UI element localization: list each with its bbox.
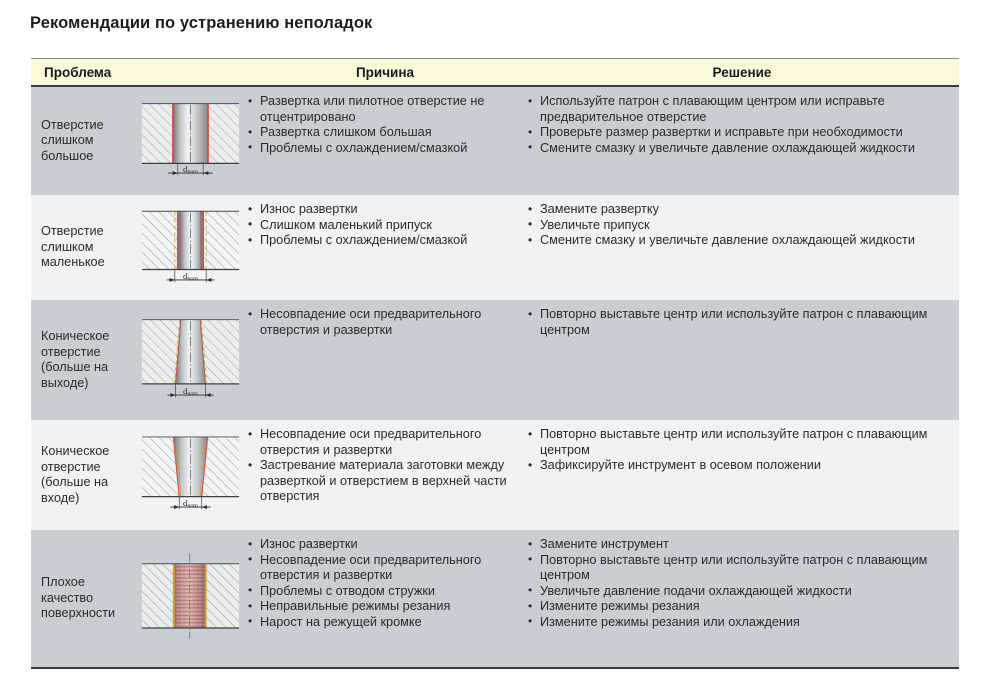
- poor-surface-finish-cross-section: [136, 530, 245, 667]
- list-item: Увеличьте давление подачи охлаждающей жи…: [527, 584, 951, 600]
- tapered-hole-wider-at-entry-cross-section: dnom: [136, 420, 245, 530]
- dimension-label: dnom: [183, 271, 198, 282]
- hole-too-large-cross-section: dnom: [136, 87, 245, 195]
- table-header-row: Проблема Причина Решение: [31, 59, 959, 87]
- dimension-label: dnom: [183, 498, 198, 509]
- list-item: Проблемы с охлаждением/смазкой: [247, 141, 519, 157]
- list-item: Смените смазку и увеличьте давление охла…: [527, 233, 915, 249]
- hole-too-small-cross-section: dnom: [136, 195, 245, 300]
- solution-list: Используйте патрон с плавающим центром и…: [527, 94, 951, 156]
- table-row: Отверстиеслишкоммаленькое: [31, 195, 959, 300]
- cell-cause: Несовпадение оси предварительного отверс…: [245, 420, 525, 530]
- cell-cause: Износ разверткиНесовпадение оси предвари…: [245, 530, 525, 667]
- solution-list: Повторно выставьте центр или используйте…: [527, 427, 951, 474]
- column-header-problem: Проблема: [31, 65, 245, 80]
- list-item: Слишком маленький припуск: [247, 218, 467, 234]
- cell-problem: Коническоеотверстие(больше навходе): [31, 420, 136, 530]
- problem-label: Коническоеотверстие(больше навыходе): [41, 329, 109, 391]
- cell-cause: Несовпадение оси предварительного отверс…: [245, 300, 525, 420]
- problem-label: Отверстиеслишкомбольшое: [41, 118, 104, 165]
- list-item: Используйте патрон с плавающим центром и…: [527, 94, 951, 125]
- cell-solution: Замените инструментПовторно выставьте це…: [525, 530, 959, 667]
- cell-figure: dnom: [136, 87, 245, 195]
- list-item: Повторно выставьте центр или используйте…: [527, 553, 951, 584]
- cause-list: Развертка или пилотное отверстие не отце…: [247, 94, 519, 156]
- list-item: Зафиксируйте инструмент в осевом положен…: [527, 458, 951, 474]
- column-header-solution: Решение: [525, 65, 959, 80]
- cell-solution: Замените разверткуУвеличьте припускСмени…: [525, 195, 959, 300]
- list-item: Износ развертки: [247, 537, 519, 553]
- table-row: Отверстиеслишкомбольшое: [31, 87, 959, 195]
- table-row: Коническоеотверстие(больше навходе): [31, 420, 959, 530]
- page-title: Рекомендации по устранению неполадок: [30, 14, 372, 33]
- cause-list: Несовпадение оси предварительного отверс…: [247, 307, 519, 338]
- list-item: Замените развертку: [527, 202, 915, 218]
- list-item: Нарост на режущей кромке: [247, 615, 519, 631]
- list-item: Несовпадение оси предварительного отверс…: [247, 553, 519, 584]
- list-item: Замените инструмент: [527, 537, 951, 553]
- cell-problem: Отверстиеслишкомбольшое: [31, 87, 136, 195]
- list-item: Повторно выставьте центр или используйте…: [527, 427, 951, 458]
- problem-label: Коническоеотверстие(больше навходе): [41, 444, 109, 506]
- dimension-label: dnom: [183, 164, 198, 175]
- cell-figure: [136, 530, 245, 667]
- cell-cause: Развертка или пилотное отверстие не отце…: [245, 87, 525, 195]
- list-item: Развертка или пилотное отверстие не отце…: [247, 94, 519, 125]
- cell-figure: dnom: [136, 420, 245, 530]
- cell-figure: dnom: [136, 300, 245, 420]
- problem-label: Отверстиеслишкоммаленькое: [41, 224, 105, 271]
- list-item: Смените смазку и увеличьте давление охла…: [527, 141, 951, 157]
- list-item: Увеличьте припуск: [527, 218, 915, 234]
- list-item: Проблемы с отводом стружки: [247, 584, 519, 600]
- list-item: Несовпадение оси предварительного отверс…: [247, 307, 519, 338]
- dimension-label: dnom: [183, 386, 198, 397]
- cell-problem: Отверстиеслишкоммаленькое: [31, 195, 136, 300]
- cell-cause: Износ разверткиСлишком маленький припуск…: [245, 195, 525, 300]
- cell-solution: Повторно выставьте центр или используйте…: [525, 420, 959, 530]
- cell-solution: Используйте патрон с плавающим центром и…: [525, 87, 959, 195]
- list-item: Проблемы с охлаждением/смазкой: [247, 233, 467, 249]
- list-item: Застревание материала заготовки между ра…: [247, 458, 519, 505]
- solution-list: Повторно выставьте центр или используйте…: [527, 307, 951, 338]
- list-item: Развертка слишком большая: [247, 125, 519, 141]
- cell-solution: Повторно выставьте центр или используйте…: [525, 300, 959, 420]
- cause-list: Несовпадение оси предварительного отверс…: [247, 427, 519, 505]
- list-item: Неправильные режимы резания: [247, 599, 519, 615]
- cell-problem: Плохоекачествоповерхности: [31, 530, 136, 667]
- cell-problem: Коническоеотверстие(больше навыходе): [31, 300, 136, 420]
- list-item: Износ развертки: [247, 202, 467, 218]
- table-row: Коническоеотверстие(больше навыходе): [31, 300, 959, 420]
- problem-label: Плохоекачествоповерхности: [41, 575, 115, 622]
- table-row: Плохоекачествоповерхности: [31, 530, 959, 667]
- cause-list: Износ разверткиНесовпадение оси предвари…: [247, 537, 519, 631]
- list-item: Повторно выставьте центр или используйте…: [527, 307, 951, 338]
- list-item: Проверьте размер развертки и исправьте п…: [527, 125, 951, 141]
- list-item: Измените режимы резания или охлаждения: [527, 615, 951, 631]
- solution-list: Замените инструментПовторно выставьте це…: [527, 537, 951, 631]
- column-header-cause: Причина: [245, 65, 525, 80]
- cell-figure: dnom: [136, 195, 245, 300]
- troubleshooting-table: Проблема Причина Решение Отверстиеслишко…: [31, 58, 959, 669]
- tapered-hole-wider-at-exit-cross-section: dnom: [136, 300, 245, 420]
- cause-list: Износ разверткиСлишком маленький припуск…: [247, 202, 467, 249]
- solution-list: Замените разверткуУвеличьте припускСмени…: [527, 202, 915, 249]
- list-item: Измените режимы резания: [527, 599, 951, 615]
- list-item: Несовпадение оси предварительного отверс…: [247, 427, 519, 458]
